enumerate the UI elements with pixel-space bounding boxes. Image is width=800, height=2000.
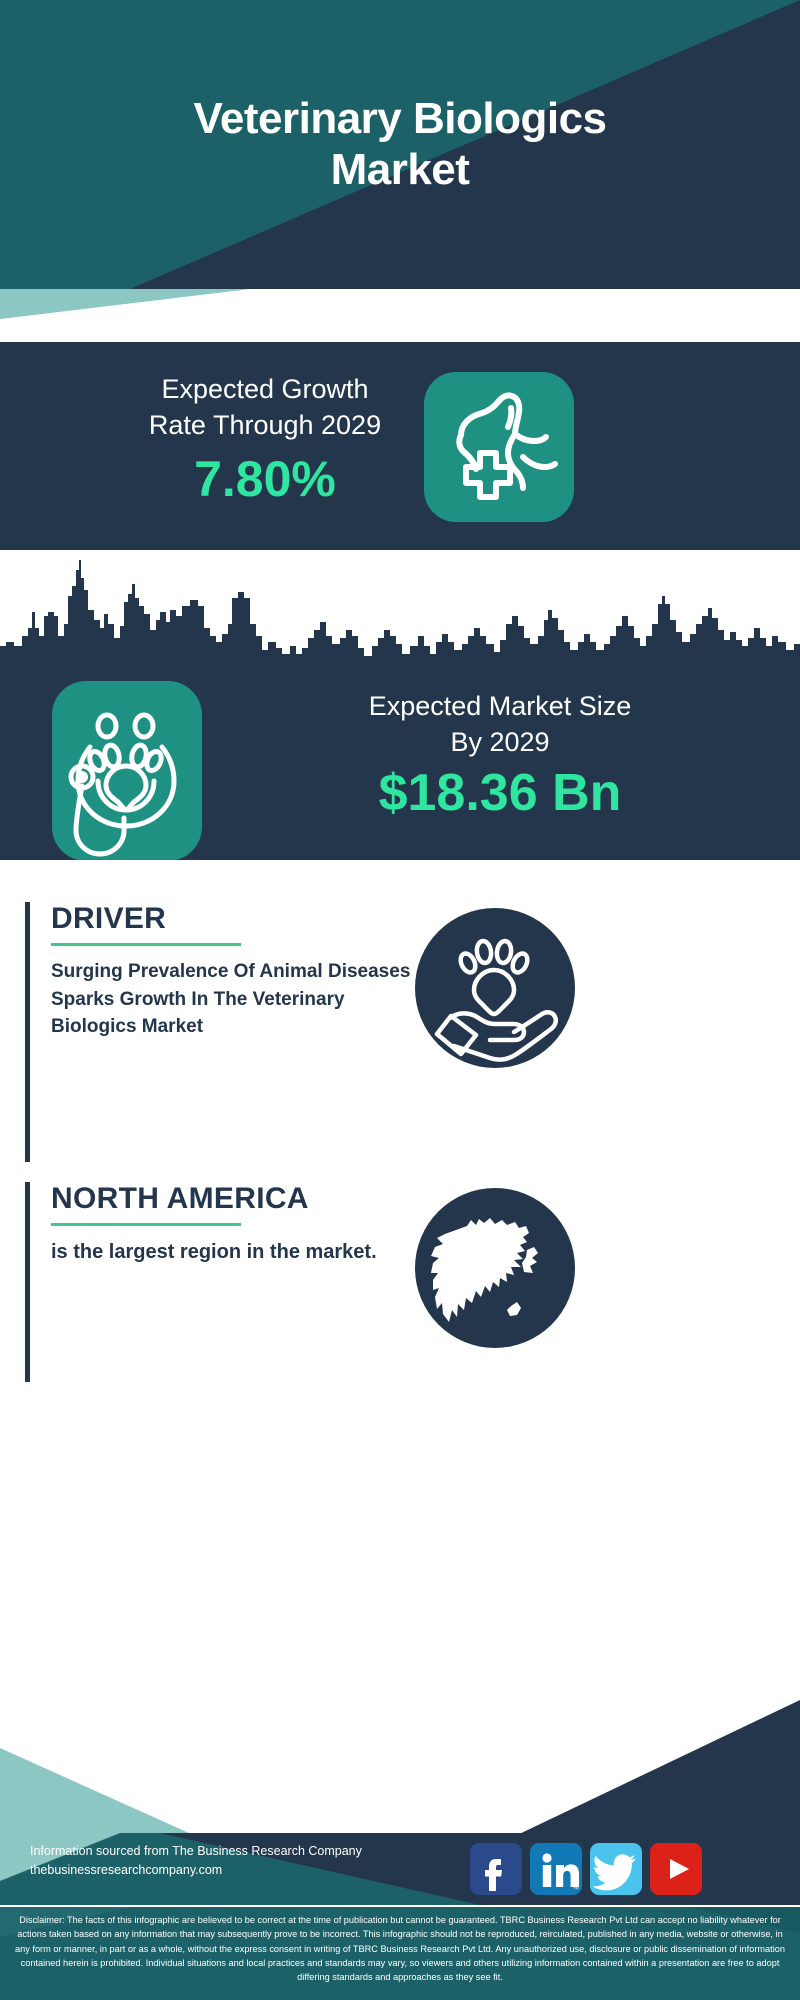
linkedin-icon[interactable]: ™ bbox=[530, 1843, 582, 1895]
stethoscope-paw-icon bbox=[52, 681, 202, 860]
north-america-map-icon bbox=[415, 1188, 575, 1348]
market-size-text: Expected Market Size By 2029 $18.36 Bn bbox=[220, 688, 780, 822]
driver-body: DRIVER Surging Prevalence Of Animal Dise… bbox=[51, 902, 431, 1041]
region-heading: NORTH AMERICA bbox=[51, 1182, 431, 1215]
market-size-label-line1: Expected Market Size bbox=[220, 688, 780, 724]
twitter-glyph bbox=[590, 1843, 642, 1895]
header-band-shape bbox=[0, 289, 800, 319]
footer-source-text: Information sourced from The Business Re… bbox=[30, 1842, 450, 1881]
youtube-glyph bbox=[650, 1843, 702, 1895]
disclaimer-text: Disclaimer: The facts of this infographi… bbox=[10, 1913, 790, 1984]
facebook-glyph bbox=[470, 1843, 522, 1895]
growth-rate-section: Expected Growth Rate Through 2029 7.80% bbox=[0, 342, 800, 550]
driver-accent-bar bbox=[25, 902, 30, 1162]
north-america-map-glyph bbox=[415, 1188, 575, 1348]
twitter-icon[interactable] bbox=[590, 1843, 642, 1895]
linkedin-glyph: ™ bbox=[530, 1843, 582, 1895]
driver-rule bbox=[51, 943, 241, 946]
page-title-line1: Veterinary Biologics bbox=[193, 94, 606, 145]
header-white-gap bbox=[0, 319, 800, 342]
header-accent-band bbox=[0, 289, 800, 319]
header-banner: Veterinary Biologics Market bbox=[0, 0, 800, 289]
region-block: NORTH AMERICA is the largest region in t… bbox=[25, 1182, 775, 1382]
disclaimer-section: Disclaimer: The facts of this infographi… bbox=[0, 1907, 800, 2000]
hand-holding-paw-icon bbox=[415, 908, 575, 1068]
market-size-value: $18.36 Bn bbox=[220, 765, 780, 822]
stethoscope-paw-glyph bbox=[52, 681, 202, 860]
market-size-label: Expected Market Size By 2029 bbox=[220, 688, 780, 761]
facebook-icon[interactable] bbox=[470, 1843, 522, 1895]
footer-divider bbox=[0, 1905, 800, 1907]
infographic-page: Veterinary Biologics Market Expected Gro… bbox=[0, 0, 800, 2000]
region-body: NORTH AMERICA is the largest region in t… bbox=[51, 1182, 431, 1267]
youtube-icon[interactable] bbox=[650, 1843, 702, 1895]
market-size-label-line2: By 2029 bbox=[220, 724, 780, 760]
hand-holding-paw-glyph bbox=[415, 908, 575, 1068]
footer-website[interactable]: thebusinessresearchcompany.com bbox=[30, 1861, 450, 1880]
page-title-line2: Market bbox=[331, 145, 470, 196]
page-title: Veterinary Biologics Market bbox=[0, 0, 800, 289]
driver-description: Surging Prevalence Of Animal Diseases Sp… bbox=[51, 958, 431, 1041]
region-accent-bar bbox=[25, 1182, 30, 1382]
city-skyline-silhouette bbox=[0, 550, 800, 680]
svg-text:™: ™ bbox=[573, 1886, 579, 1893]
market-size-section: Expected Market Size By 2029 $18.36 Bn bbox=[0, 550, 800, 860]
social-links: ™ bbox=[470, 1843, 702, 1895]
content-section: DRIVER Surging Prevalence Of Animal Dise… bbox=[0, 860, 800, 1660]
region-rule bbox=[51, 1223, 241, 1226]
dog-medical-cross-glyph bbox=[424, 372, 574, 522]
footer-source-line: Information sourced from The Business Re… bbox=[30, 1842, 450, 1861]
driver-heading: DRIVER bbox=[51, 902, 431, 935]
driver-block: DRIVER Surging Prevalence Of Animal Dise… bbox=[25, 902, 775, 1162]
region-description: is the largest region in the market. bbox=[51, 1238, 431, 1267]
dog-medical-cross-icon bbox=[424, 372, 574, 522]
